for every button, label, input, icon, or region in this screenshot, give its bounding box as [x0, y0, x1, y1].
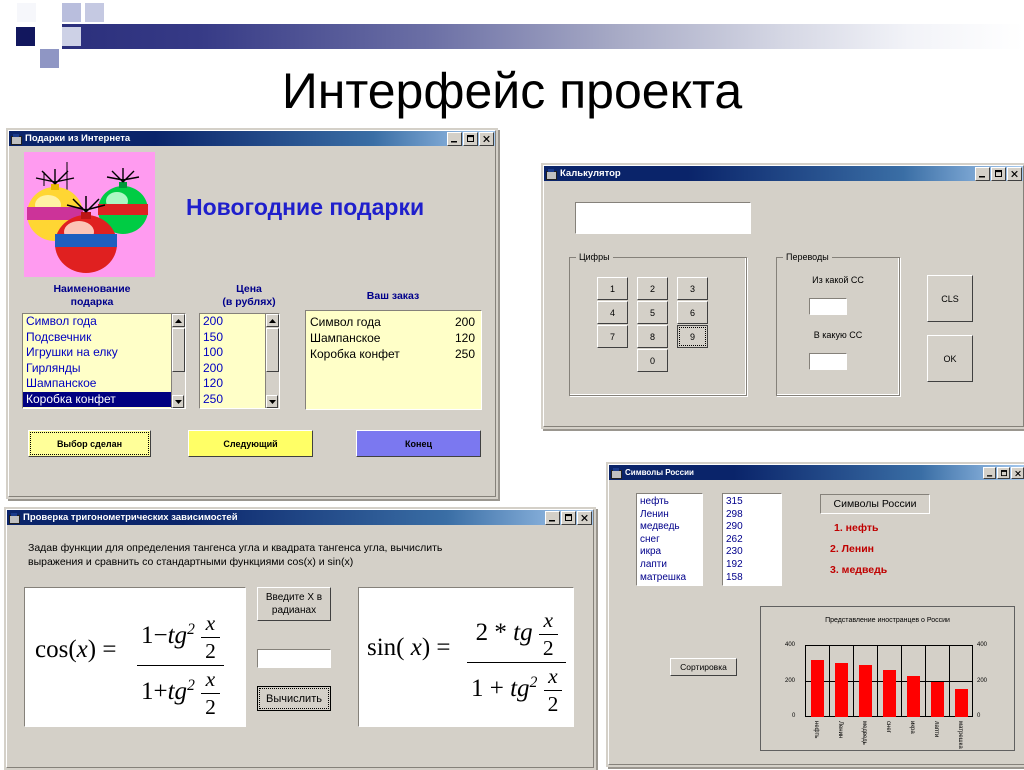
gift-price-listbox[interactable]: 200 150 100 200 120 250	[199, 313, 280, 409]
digit-button-6[interactable]: 6	[677, 301, 708, 324]
minimize-icon[interactable]	[975, 167, 990, 181]
chart-bar	[835, 663, 848, 717]
titlebar-gifts[interactable]: Подарки из Интернета	[9, 131, 495, 146]
to-base-input[interactable]	[809, 353, 847, 370]
calculate-button[interactable]: Вычислить	[257, 686, 331, 711]
close-icon[interactable]	[577, 511, 592, 525]
gridline-v6	[949, 645, 950, 717]
axis-right	[972, 645, 973, 717]
window-calculator[interactable]: Калькулятор Цифры 1 2 3 4 5 6 7 8 9 0 Пе…	[541, 163, 1024, 429]
list-item[interactable]: 150	[200, 330, 266, 346]
scrollbar-thumb[interactable]	[172, 328, 185, 372]
x-input-label: Введите Х в радианах	[257, 587, 331, 621]
column-header-price: Цена (в рублях)	[194, 283, 304, 309]
digit-button-4[interactable]: 4	[597, 301, 628, 324]
gridline-400	[805, 645, 973, 646]
list-item-selected[interactable]: Коробка конфет	[23, 392, 172, 408]
column-header-order: Ваш заказ	[308, 290, 478, 303]
banner-square-pale	[17, 3, 36, 22]
list-item[interactable]: 262	[723, 534, 781, 547]
digit-button-5[interactable]: 5	[637, 301, 668, 324]
chart-bar	[931, 682, 944, 717]
page-title: Интерфейс проекта	[0, 62, 1024, 120]
window-title-calculator: Калькулятор	[560, 168, 975, 179]
list-item[interactable]: 200	[200, 361, 266, 377]
list-item[interactable]: 250	[200, 392, 266, 408]
list-item[interactable]: Шампанское	[23, 376, 172, 392]
formula-cos-fraction: 1−tg2 x2 1+tg2 x2	[137, 611, 224, 720]
scroll-up-icon[interactable]	[266, 314, 279, 327]
trig-description-line1: Задав функции для определения тангенса у…	[28, 541, 573, 555]
gridline-v5	[925, 645, 926, 717]
order-name: Символ года	[310, 314, 381, 330]
gridline-v1	[829, 645, 830, 717]
scroll-up-icon[interactable]	[172, 314, 185, 327]
list-item[interactable]: 100	[200, 345, 266, 361]
list-item[interactable]: 120	[200, 376, 266, 392]
list-item[interactable]: Символ года	[23, 314, 172, 330]
list-item[interactable]: нефть	[637, 496, 702, 509]
scrollbar-names[interactable]	[171, 314, 185, 408]
order-price: 120	[455, 330, 475, 346]
scrollbar-prices[interactable]	[265, 314, 279, 408]
banner-square-white-mid	[40, 27, 59, 46]
gridline-v4	[901, 645, 902, 717]
list-item[interactable]: Гирлянды	[23, 361, 172, 377]
list-item[interactable]: 158	[723, 572, 781, 585]
window-title-russia: Символы России	[625, 468, 983, 477]
ytick-200-left: 200	[785, 678, 795, 684]
chart-container: Представление иностранцев о России 400 2…	[760, 606, 1015, 751]
ranking-panel-title: Символы России	[820, 494, 930, 514]
xtick-label: Ленин	[837, 721, 843, 738]
xtick-label: икра	[909, 721, 915, 734]
to-base-label: В какую СС	[776, 330, 900, 340]
list-item[interactable]: Игрушки на елку	[23, 345, 172, 361]
next-button[interactable]: Следующий	[188, 430, 313, 457]
scroll-down-icon[interactable]	[266, 395, 278, 408]
slide-banner	[0, 0, 1024, 70]
list-item: Коробка конфет 250	[310, 346, 475, 362]
vb-form-icon	[546, 169, 557, 179]
sort-button[interactable]: Сортировка	[670, 658, 737, 676]
banner-square-top	[62, 3, 81, 22]
window-title-gifts: Подарки из Интернета	[25, 133, 447, 144]
chart-plot-area	[805, 645, 973, 717]
gifts-heading: Новогодние подарки	[186, 194, 424, 221]
banner-square-navy	[16, 27, 35, 46]
banner-square-top2	[85, 3, 104, 22]
chart-bar	[811, 660, 824, 717]
formula-cos-box: cos(x) = 1−tg2 x2 1+tg2 x2	[24, 587, 246, 727]
vb-form-icon	[9, 513, 20, 523]
digit-button-8[interactable]: 8	[637, 325, 668, 348]
digit-button-3[interactable]: 3	[677, 277, 708, 300]
formula-sin-lhs: sin( x) =	[367, 634, 451, 661]
digit-button-9[interactable]: 9	[677, 325, 708, 348]
xtick-label: лапти	[933, 721, 939, 737]
end-button[interactable]: Конец	[356, 430, 481, 457]
scrollbar-thumb[interactable]	[266, 328, 279, 372]
formula-sin-box: sin( x) = 2 * tg x2 1 + tg2 x2	[358, 587, 574, 727]
close-icon[interactable]	[479, 132, 494, 146]
list-item[interactable]: икра	[637, 546, 702, 559]
xtick-label: медведь	[861, 721, 867, 745]
titlebar-calculator[interactable]: Калькулятор	[544, 166, 1023, 181]
formula-sin-fraction: 2 * tg x2 1 + tg2 x2	[467, 608, 566, 717]
ranking-item-2: 2. Ленин	[830, 543, 874, 555]
ytick-200-right: 200	[977, 678, 987, 684]
digits-frame-label: Цифры	[576, 252, 613, 262]
order-name: Шампанское	[310, 330, 380, 346]
list-item[interactable]: 200	[200, 314, 266, 330]
chart-bar	[907, 676, 920, 717]
conversions-frame-label: Переводы	[783, 252, 832, 262]
maximize-icon[interactable]	[463, 132, 478, 146]
vb-form-icon	[11, 134, 22, 144]
order-name: Коробка конфет	[310, 346, 400, 362]
column-header-name: Наименование подарка	[22, 283, 162, 309]
titlebar-russia[interactable]: Символы России	[609, 465, 1024, 480]
gridline-v2	[853, 645, 854, 717]
list-item: Символ года 200	[310, 314, 475, 330]
minimize-icon[interactable]	[447, 132, 462, 146]
choose-button[interactable]: Выбор сделан	[28, 430, 151, 457]
from-base-label: Из какой СС	[776, 275, 900, 285]
maximize-icon[interactable]	[991, 167, 1006, 181]
close-icon[interactable]	[1007, 167, 1022, 181]
ranking-item-3: 3. медведь	[830, 564, 887, 576]
xtick-label: матрешка	[957, 721, 963, 749]
cls-button[interactable]: CLS	[927, 275, 973, 322]
window-title-trigonometry: Проверка тригонометрических зависимостей	[23, 512, 545, 523]
banner-gradient-bar	[62, 24, 1024, 49]
xtick-label: нефть	[813, 721, 819, 738]
window-gifts[interactable]: Подарки из Интернета	[6, 128, 498, 499]
ytick-400-right: 400	[977, 642, 987, 648]
ornaments-image	[24, 152, 155, 277]
ytick-400-left: 400	[785, 642, 795, 648]
maximize-icon[interactable]	[561, 511, 576, 525]
order-listbox[interactable]: Символ года 200 Шампанское 120 Коробка к…	[305, 310, 482, 410]
digit-button-0[interactable]: 0	[637, 349, 668, 372]
order-price: 200	[455, 314, 475, 330]
list-item[interactable]: 298	[723, 509, 781, 522]
list-item[interactable]: 192	[723, 559, 781, 572]
list-item[interactable]: матрешка	[637, 572, 702, 585]
list-item[interactable]: Ленин	[637, 509, 702, 522]
window-trigonometry[interactable]: Проверка тригонометрических зависимостей…	[4, 507, 596, 770]
list-item[interactable]: 230	[723, 546, 781, 559]
titlebar-trigonometry[interactable]: Проверка тригонометрических зависимостей	[7, 510, 593, 525]
minimize-icon[interactable]	[545, 511, 560, 525]
chart-bar	[883, 670, 896, 717]
chart-bar	[955, 689, 968, 717]
list-item[interactable]: снег	[637, 534, 702, 547]
ytick-0-left: 0	[792, 713, 795, 719]
vb-form-icon	[611, 468, 622, 478]
ranking-item-1: 1. нефть	[834, 522, 879, 534]
chart-bar	[859, 665, 872, 717]
gift-name-listbox[interactable]: Символ года Подсвечник Игрушки на елку Г…	[22, 313, 186, 409]
order-price: 250	[455, 346, 475, 362]
ytick-0-right: 0	[977, 713, 980, 719]
digit-button-7[interactable]: 7	[597, 325, 628, 348]
list-item[interactable]: 290	[723, 521, 781, 534]
minimize-icon[interactable]	[983, 467, 996, 479]
digit-button-2[interactable]: 2	[637, 277, 668, 300]
x-input-field[interactable]	[257, 649, 331, 668]
symbol-names-listbox[interactable]: нефть Ленин медведь снег икра лапти матр…	[636, 493, 703, 586]
list-item[interactable]: Подсвечник	[23, 330, 172, 346]
close-icon[interactable]	[1011, 467, 1024, 479]
from-base-input[interactable]	[809, 298, 847, 315]
list-item[interactable]: лапти	[637, 559, 702, 572]
list-item: Шампанское 120	[310, 330, 475, 346]
formula-cos-lhs: cos(x) =	[35, 636, 116, 663]
calculator-display[interactable]	[575, 202, 751, 234]
banner-square-mid	[62, 27, 81, 46]
window-russia-symbols[interactable]: Символы России нефть Ленин медведь снег …	[606, 462, 1024, 767]
digit-button-1[interactable]: 1	[597, 277, 628, 300]
list-item[interactable]: 315	[723, 496, 781, 509]
maximize-icon[interactable]	[997, 467, 1010, 479]
symbol-values-listbox[interactable]: 315 298 290 262 230 192 158	[722, 493, 782, 586]
list-item[interactable]: медведь	[637, 521, 702, 534]
axis-left	[805, 645, 806, 717]
trig-description-line2: выражения и сравнить со стандартными фун…	[28, 555, 573, 569]
xtick-label: снег	[885, 721, 891, 733]
scroll-down-icon[interactable]	[172, 395, 184, 408]
ok-button[interactable]: OK	[927, 335, 973, 382]
chart-title: Представление иностранцев о России	[761, 617, 1014, 624]
gridline-v3	[877, 645, 878, 717]
